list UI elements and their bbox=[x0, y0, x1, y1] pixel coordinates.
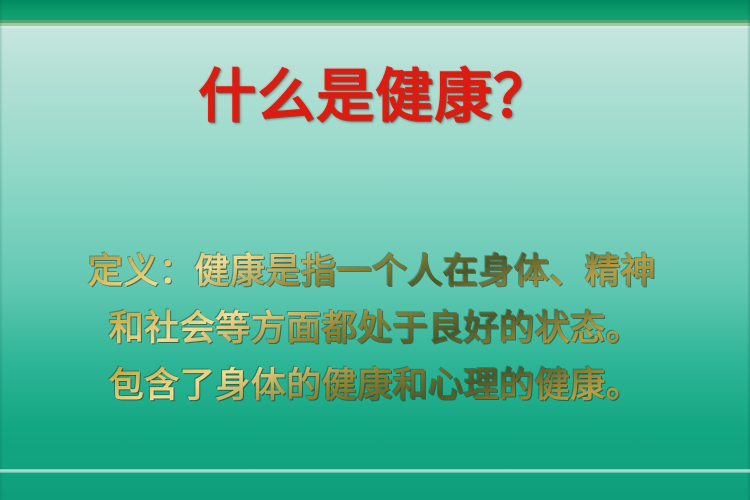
slide-title-container: 什么是健康？ bbox=[0, 66, 750, 127]
top-green-band bbox=[0, 0, 750, 20]
bottom-divider-rule bbox=[0, 469, 750, 473]
presentation-slide: 什么是健康？ 定义：健康是指一个人在身体、精神 和社会等方面都处于良好的状态。 … bbox=[0, 0, 750, 500]
slide-body-line-2: 和社会等方面都处于良好的状态。 bbox=[0, 300, 750, 357]
slide-body-line-3: 包含了身体的健康和心理的健康。 bbox=[0, 357, 750, 414]
slide-title: 什么是健康？ bbox=[198, 66, 552, 127]
top-divider-rule-light bbox=[0, 26, 750, 28]
slide-body-container: 定义：健康是指一个人在身体、精神 和社会等方面都处于良好的状态。 包含了身体的健… bbox=[0, 243, 750, 414]
slide-body-line-1: 定义：健康是指一个人在身体、精神 bbox=[0, 243, 750, 300]
